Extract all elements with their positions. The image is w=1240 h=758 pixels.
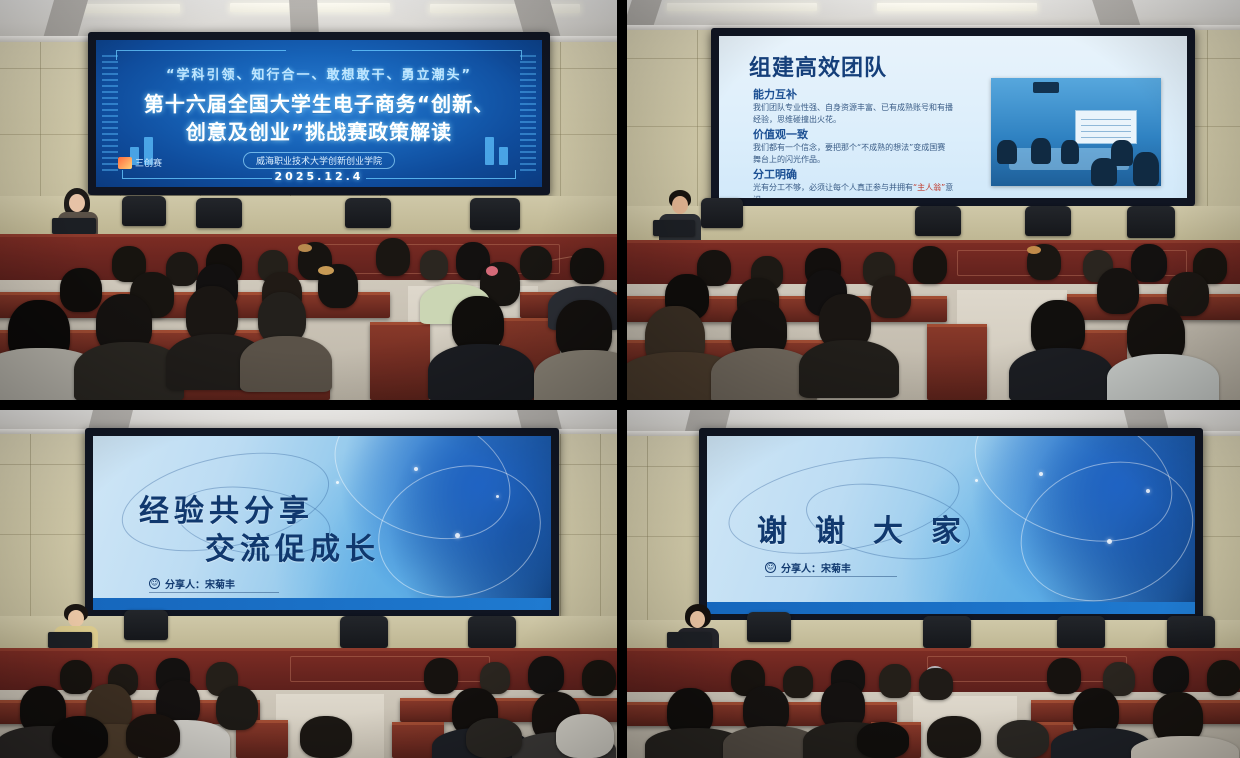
logo-mark-icon [118,157,132,169]
led-screen: “学科引领、知行合一、敢想敢干、勇立潮头” 第十六届全国大学生电子商务“创新、 … [88,32,550,195]
audience-head [556,714,614,758]
audience-bench [927,324,987,400]
audience-head [300,716,352,758]
presenter-name: 分享人：宋菊丰 [165,576,235,591]
audience-head [1207,660,1240,696]
title-char: 谢 [815,514,873,549]
seated-person [1061,140,1079,164]
title-char: 大 [873,514,931,549]
stage-chair [122,196,166,226]
audience-head [528,656,564,694]
audience-bench [1031,700,1240,724]
screen-surface: 经验共分享 交流促成长 ☺ 分享人：宋菊丰 [93,436,551,610]
stage-chair [1057,616,1105,648]
audience-head [997,720,1049,758]
audience-head [52,716,108,758]
slide-title-line2: 创意及创业”挑战赛政策解读 [96,116,542,145]
audience-head [466,718,522,758]
stage-chair [340,616,388,648]
stage-chair [1167,616,1215,648]
audience-head [919,668,953,700]
audience-head [927,716,981,758]
section-heading: 分工明确 [753,166,797,182]
audience-head [60,660,92,694]
presenter-head [69,194,85,212]
ceiling-light [877,3,1037,11]
podium-laptop [48,632,92,648]
audience-head [376,238,410,276]
audience-head [913,246,947,284]
slide-organizer: 威海职业技术大学创新创业学院 [243,152,395,169]
audience-shoulder [1131,736,1239,758]
ceiling-light [430,4,580,13]
deco-corner [116,50,286,60]
ceiling-beam [289,0,319,34]
audience-bench [370,322,430,400]
section-body-highlight: “主人翁” [913,183,945,192]
audience-shoulder [799,340,899,398]
stage-chair [923,616,971,648]
slide-footer-bar [93,598,551,610]
presenter-name: 分享人：宋菊丰 [781,560,851,575]
audience-head [582,660,616,696]
audience-head [879,664,911,698]
audience-head [126,714,180,758]
section-body: 我们团队专业性强、自身资源丰富、已有成熟账号和有播经验，思维碰撞出火花。 [753,102,953,125]
audience-head [1131,244,1167,282]
audience-shoulder [1009,348,1113,400]
stage-chair [915,206,961,236]
panel-top-right: 组建高效团队 能力互补 我们团队专业性强、自身资源丰富、已有成熟账号和有播经验，… [627,0,1240,400]
presenter-head [672,196,688,214]
audience-head [783,666,813,698]
section-heading: 价值观一致 [753,126,808,142]
audience-head [424,658,458,694]
panel-bottom-left: 经验共分享 交流促成长 ☺ 分享人：宋菊丰 [0,410,617,758]
seated-person [1031,138,1051,164]
podium-laptop [667,632,711,648]
podium-laptop [52,218,96,234]
stage-chair [124,610,168,640]
stage-chair [1025,206,1071,236]
slide-title-line2: 交流促成长 [205,524,380,568]
audience-head [420,250,448,280]
audience-shoulder [240,336,332,392]
podium-laptop [653,220,695,236]
presenter-avatar-icon: ☺ [149,578,160,589]
whiteboard [1075,110,1137,144]
hair-clip [318,266,334,275]
slide-date: 2025.12.4 [96,170,542,183]
stage-chair [196,198,242,228]
deco-corner [352,50,522,60]
seated-person [1091,158,1117,186]
projector-icon [1033,82,1059,93]
audience-head [216,686,258,730]
slide-title-ink-sharing: 经验共分享 交流促成长 ☺ 分享人：宋菊丰 [93,436,551,610]
photo-collage-2x2: “学科引领、知行合一、敢想敢干、勇立潮头” 第十六届全国大学生电子商务“创新、 … [0,0,1240,758]
desk-panel [927,656,1127,682]
slide-title-ink-thanks: 谢谢大家 ☺ 分享人：宋菊丰 [707,436,1195,614]
stage-chair [1127,206,1175,238]
slide-title-tech: “学科引领、知行合一、敢想敢干、勇立潮头” 第十六届全国大学生电子商务“创新、 … [96,40,542,187]
audience-shoulder [534,350,617,400]
slide-presenter: ☺ 分享人：宋菊丰 [149,576,235,591]
ceiling [627,0,1240,30]
panel-bottom-right: 谢谢大家 ☺ 分享人：宋菊丰 [627,410,1240,758]
stage-chair [747,612,791,642]
presenter-underline [765,576,897,577]
hair-clip [1027,246,1041,254]
slide-title-thanks: 谢谢大家 [757,506,989,550]
seated-person [1133,152,1159,186]
section-heading: 能力互补 [753,86,797,102]
audience-head [857,722,909,758]
audience-head [1153,656,1189,694]
stage-chair [345,198,391,228]
presenter-avatar-icon: ☺ [765,562,776,573]
section-body-prefix: 光有分工不够，必须让每个人真正参与并拥有 [753,183,913,192]
slide-photo-team-meeting [991,78,1161,186]
seated-person [997,140,1017,164]
audience-shoulder [428,344,534,400]
presenter-head [690,611,705,628]
slide-title-line1: 第十六届全国大学生电子商务“创新、 [96,88,542,117]
hair-clip [298,244,312,252]
led-screen: 谢谢大家 ☺ 分享人：宋菊丰 [699,428,1203,622]
audience-head [1047,658,1081,694]
audience-head [520,246,552,280]
audience-head [570,248,604,284]
slide-logo: 三创赛 [118,156,162,169]
title-char: 家 [931,514,989,549]
title-char: 谢 [757,514,815,549]
audience-head [60,268,102,312]
slide-tagline: “学科引领、知行合一、敢想敢干、勇立潮头” [96,64,542,83]
section-body-mixed: 光有分工不够，必须让每个人真正参与并拥有“主人翁”意识。 [753,182,968,198]
stage-chair [468,616,516,648]
slide-content-team: 组建高效团队 能力互补 我们团队专业性强、自身资源丰富、已有成熟账号和有播经验，… [719,36,1187,198]
panel-top-left: “学科引领、知行合一、敢想敢干、勇立潮头” 第十六届全国大学生电子商务“创新、 … [0,0,617,400]
ceiling-light [667,3,817,11]
led-screen: 经验共分享 交流促成长 ☺ 分享人：宋菊丰 [85,428,559,618]
slide-title: 组建高效团队 [749,50,887,82]
screen-surface: 谢谢大家 ☺ 分享人：宋菊丰 [707,436,1195,614]
podium-desk [0,648,617,694]
audience-head [871,276,911,318]
slide-presenter: ☺ 分享人：宋菊丰 [765,560,851,575]
desk-panel [290,656,490,682]
audience-head [1097,268,1139,314]
stage-chair [470,198,520,230]
hair-clip [486,266,498,276]
section-body: 我们都有一个信念，要把那个“不成熟的想法”变成国赛舞台上的闪光作品。 [753,142,953,165]
screen-surface: “学科引领、知行合一、敢想敢干、勇立潮头” 第十六届全国大学生电子商务“创新、 … [96,40,542,187]
presenter-underline [149,592,279,593]
presenter-head [68,610,84,627]
led-screen: 组建高效团队 能力互补 我们团队专业性强、自身资源丰富、已有成熟账号和有播经验，… [711,28,1195,206]
logo-text: 三创赛 [135,156,162,169]
screen-surface: 组建高效团队 能力互补 我们团队专业性强、自身资源丰富、已有成熟账号和有播经验，… [719,36,1187,198]
audience-shoulder [1107,354,1219,400]
